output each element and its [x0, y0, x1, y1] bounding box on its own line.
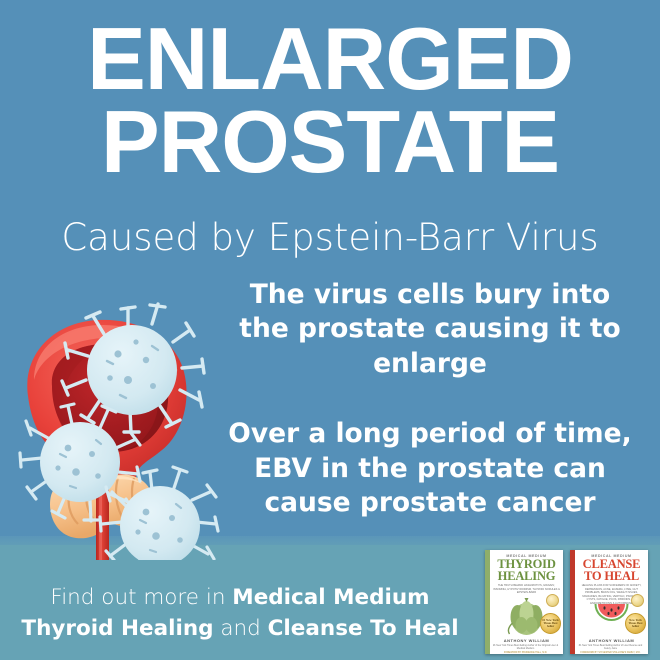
- body-copy: The virus cells bury into the prostate c…: [222, 278, 638, 521]
- footer-conjunction: and: [214, 616, 268, 641]
- book-title-line-2: TO HEAL: [578, 571, 645, 583]
- body-paragraph-2: Over a long period of time, EBV in the p…: [222, 417, 638, 520]
- prostate-virus-illustration: [0, 268, 232, 560]
- book-covers: MEDICAL MEDIUM THYROID HEALING THE TRUTH…: [485, 550, 657, 656]
- book-author: ANTHONY WILLIAM: [490, 638, 563, 643]
- book-blurb: #1 New York Times Best-Selling Author of…: [491, 644, 560, 650]
- bestseller-seal: #1 New York Times Best Seller: [540, 613, 561, 634]
- headline-line-2: PROSTATE: [0, 101, 660, 184]
- page-title: ENLARGED PROSTATE: [0, 18, 660, 183]
- poster-canvas: ENLARGED PROSTATE Caused by Epstein-Barr…: [0, 0, 660, 660]
- bestseller-seal: New York Times Best Seller: [625, 613, 646, 634]
- headline-line-1: ENLARGED: [0, 18, 660, 101]
- book-foreword: FOREWORD BY SYLVESTER STALLONE'S FAMILY,…: [576, 652, 645, 654]
- book-cover-thyroid-healing[interactable]: MEDICAL MEDIUM THYROID HEALING THE TRUTH…: [485, 550, 563, 654]
- subtitle: Caused by Epstein-Barr Virus: [0, 218, 660, 259]
- footer-book-2: Cleanse To Heal: [268, 616, 459, 641]
- book-cover-cleanse-to-heal[interactable]: MEDICAL MEDIUM CLEANSE TO HEAL HEALING P…: [570, 550, 648, 654]
- footer-callout: Find out more in Medical Medium Thyroid …: [14, 582, 466, 644]
- book-blurb: #1 New York Times Best-Selling Author of…: [576, 644, 645, 650]
- body-paragraph-1: The virus cells bury into the prostate c…: [222, 278, 638, 381]
- gold-seal-small: [546, 594, 559, 607]
- book-foreword: FOREWORD BY PRUDENCE HALL, M.D.: [491, 652, 560, 654]
- footer-lead: Find out more in: [50, 585, 232, 610]
- book-title-line-2: HEALING: [493, 571, 560, 583]
- book-author: ANTHONY WILLIAM: [575, 638, 648, 643]
- book-subtitle: THE TRUTH BEHIND HASHIMOTO'S, GRAVES', I…: [493, 584, 560, 595]
- gold-seal-small: [631, 594, 644, 607]
